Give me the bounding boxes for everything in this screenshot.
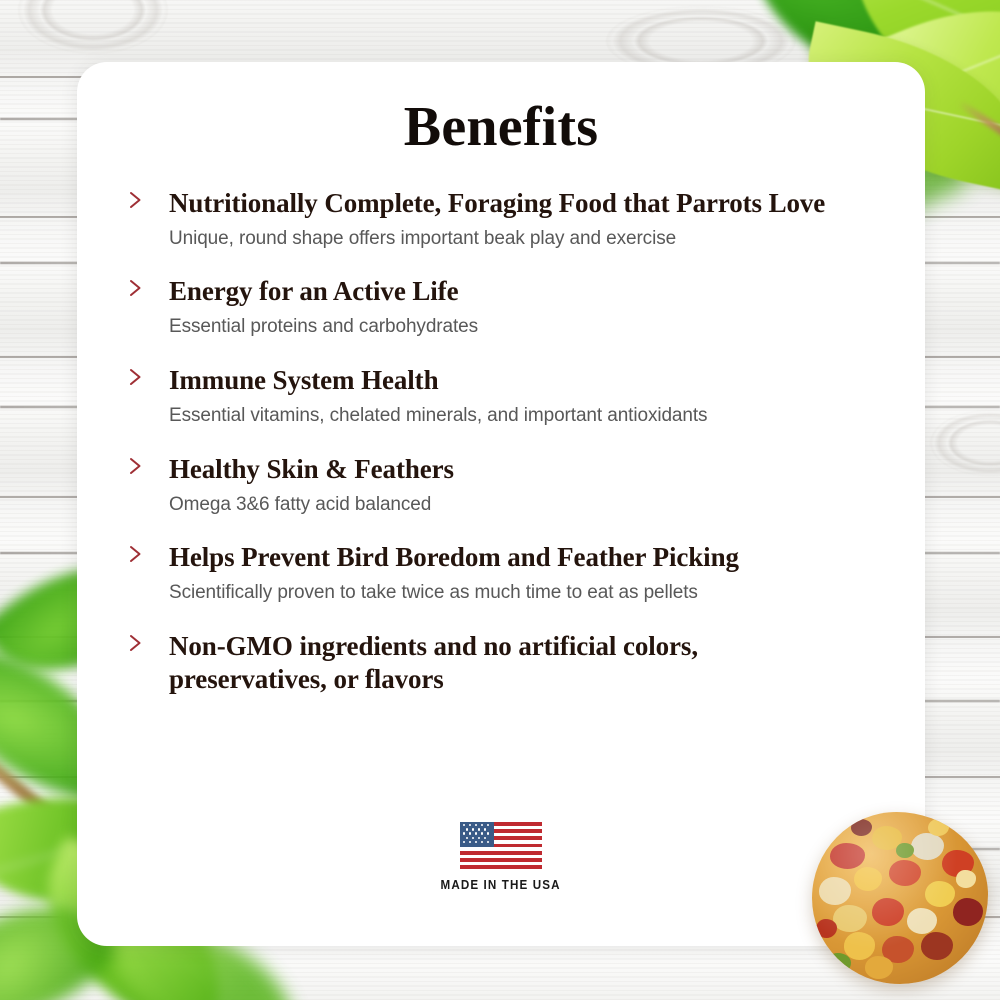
benefits-list: Nutritionally Complete, Foraging Food th…	[77, 157, 925, 696]
product-benefits-graphic: Benefits Nutritionally Complete, Foragin…	[0, 0, 1000, 1000]
benefit-heading: Energy for an Active Life	[169, 275, 879, 308]
benefit-list-item: Helps Prevent Bird Boredom and Feather P…	[123, 541, 879, 606]
chevron-right-icon	[127, 456, 145, 476]
usa-flag-icon	[460, 822, 542, 869]
chevron-right-icon	[127, 278, 145, 298]
made-in-usa-label: MADE IN THE USA	[441, 878, 561, 892]
chevron-right-icon	[127, 633, 145, 653]
chevron-right-icon	[127, 367, 145, 387]
benefit-list-item: Healthy Skin & Feathers Omega 3&6 fatty …	[123, 453, 879, 518]
page-title: Benefits	[77, 62, 925, 157]
benefit-subtitle: Scientifically proven to take twice as m…	[169, 581, 879, 606]
benefit-heading: Nutritionally Complete, Foraging Food th…	[169, 187, 879, 220]
benefit-subtitle: Essential proteins and carbohydrates	[169, 315, 879, 340]
benefit-subtitle: Essential vitamins, chelated minerals, a…	[169, 404, 879, 429]
flag-canton	[460, 822, 494, 847]
chevron-right-icon	[127, 544, 145, 564]
benefit-subtitle: Omega 3&6 fatty acid balanced	[169, 493, 879, 518]
benefit-list-item: Non-GMO ingredients and no artificial co…	[123, 630, 879, 696]
benefit-subtitle: Unique, round shape offers important bea…	[169, 227, 879, 252]
chevron-right-icon	[127, 190, 145, 210]
benefit-list-item: Energy for an Active Life Essential prot…	[123, 275, 879, 340]
benefit-heading: Helps Prevent Bird Boredom and Feather P…	[169, 541, 879, 574]
benefit-list-item: Nutritionally Complete, Foraging Food th…	[123, 187, 879, 252]
benefit-heading: Healthy Skin & Feathers	[169, 453, 879, 486]
food-ball-product-image	[812, 812, 988, 984]
benefit-heading: Non-GMO ingredients and no artificial co…	[169, 630, 809, 696]
benefit-list-item: Immune System Health Essential vitamins,…	[123, 364, 879, 429]
made-in-usa-badge: MADE IN THE USA	[77, 822, 925, 892]
benefits-card: Benefits Nutritionally Complete, Foragin…	[77, 62, 925, 946]
benefit-heading: Immune System Health	[169, 364, 879, 397]
